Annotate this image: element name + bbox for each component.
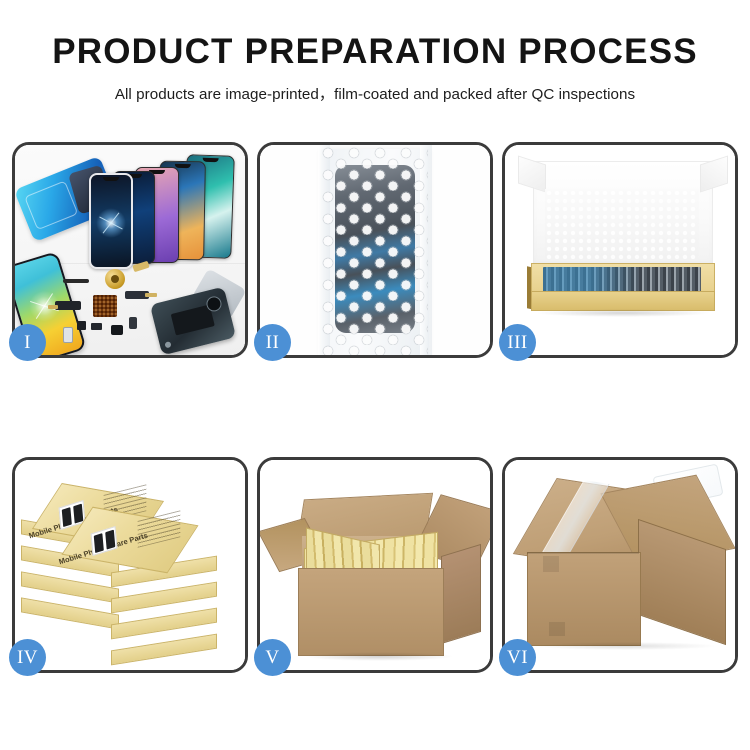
earpiece-mesh-icon <box>63 279 89 283</box>
stacked-box-side <box>21 597 119 629</box>
process-step-panel-4[interactable]: Mobile Phone Spare Parts Mobile Phone Sp… <box>12 457 248 673</box>
process-step-panel-3[interactable]: III <box>502 142 738 358</box>
step-3-image <box>505 145 735 355</box>
step-badge-4: IV <box>9 639 46 676</box>
battery-connector-icon <box>63 327 73 343</box>
notch-icon <box>103 177 119 181</box>
carton-shadow <box>535 642 715 650</box>
kraft-box-front-edge <box>531 291 715 311</box>
process-step-panel-6[interactable]: VI <box>502 457 738 673</box>
process-step-panel-2[interactable]: II <box>257 142 493 358</box>
step-badge-5: V <box>254 639 291 676</box>
phone-screen-front-icon <box>89 173 133 269</box>
screen-thumb-icon <box>73 503 83 523</box>
stacked-box-side <box>111 582 217 614</box>
notch-icon <box>175 164 191 168</box>
step-badge-3: III <box>499 324 536 361</box>
screw-icon <box>164 341 171 348</box>
chip-component-icon <box>91 323 102 330</box>
step-badge-2: II <box>254 324 291 361</box>
carton-front-panel <box>298 568 444 656</box>
stacked-box-side <box>111 634 217 666</box>
foam-lining-icon <box>545 189 699 259</box>
notch-icon <box>203 158 219 162</box>
stacked-box-side <box>21 571 119 603</box>
carton-label-mark <box>549 622 565 636</box>
carton-side-panel <box>441 544 481 644</box>
carton-shadow <box>304 652 454 661</box>
speaker-module-icon <box>105 269 125 289</box>
product-preparation-poster: PRODUCT PREPARATION PROCESS All products… <box>0 0 750 750</box>
flex-cable-icon <box>55 301 81 310</box>
step-1-image <box>15 145 245 355</box>
step-4-image: Mobile Phone Spare Parts Mobile Phone Sp… <box>15 460 245 670</box>
bubble-highlights <box>322 147 428 355</box>
packed-screens-icon <box>543 267 701 293</box>
carton-label-mark <box>543 556 559 572</box>
step-6-image <box>505 460 735 670</box>
page-subtitle: All products are image-printed，film-coat… <box>0 82 750 104</box>
box-shadow <box>535 309 711 317</box>
phone-screen-fan <box>67 151 237 271</box>
step-5-image <box>260 460 490 670</box>
carton-seam <box>527 552 639 554</box>
flex-cable-icon <box>125 291 149 299</box>
kraft-box-stack: Mobile Phone Spare Parts Mobile Phone Sp… <box>15 460 245 670</box>
screw-grid-icon <box>93 295 117 317</box>
step-badge-1: I <box>9 324 46 361</box>
page-title: PRODUCT PREPARATION PROCESS <box>0 34 750 71</box>
chip-component-icon <box>77 321 86 330</box>
step-2-image <box>260 145 490 355</box>
screen-burst-icon <box>96 208 126 238</box>
process-step-grid: I II <box>12 142 738 673</box>
process-step-panel-5[interactable]: V <box>257 457 493 673</box>
chip-component-icon <box>129 317 137 329</box>
chip-component-icon <box>111 325 123 335</box>
poster-header: PRODUCT PREPARATION PROCESS All products… <box>0 0 750 104</box>
screen-thumb-icon <box>93 533 103 553</box>
step-badge-6: VI <box>499 639 536 676</box>
screen-thumb-icon <box>105 529 115 549</box>
process-step-panel-1[interactable]: I <box>12 142 248 358</box>
stacked-box-side <box>111 608 217 640</box>
screen-thumb-icon <box>61 507 71 527</box>
